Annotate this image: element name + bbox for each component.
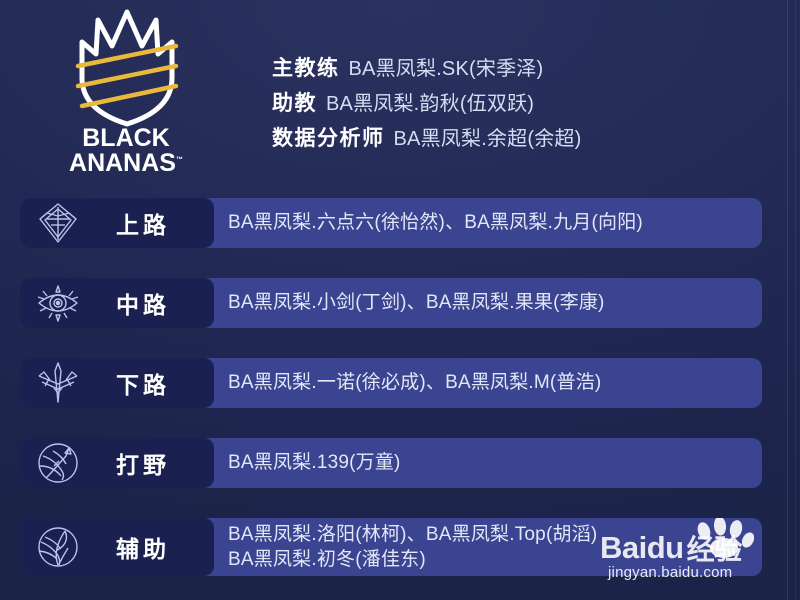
trademark-symbol: ™ — [176, 157, 183, 164]
mid-lane-icon — [30, 280, 86, 326]
player-line: BA黑凤梨.六点六(徐怡然)、BA黑凤梨.九月(向阳) — [228, 210, 762, 235]
role-label-panel: 打野 — [20, 438, 214, 488]
staff-row-assistant-coach: 助教 BA黑凤梨.韵秋(伍双跃) — [272, 87, 772, 117]
staff-label: 助教 — [272, 87, 317, 117]
role-label-panel: 中路 — [20, 278, 214, 328]
player-line: BA黑凤梨.139(万童) — [228, 450, 762, 475]
player-names: BA黑凤梨.139(万童) — [228, 438, 762, 488]
player-line: BA黑凤梨.小剑(丁剑)、BA黑凤梨.果果(李康) — [228, 290, 762, 315]
staff-value: BA黑凤梨.SK(宋季泽) — [349, 52, 544, 81]
shield-crown-icon — [72, 6, 182, 128]
jungle-icon — [30, 440, 86, 486]
bot-lane-icon — [30, 360, 86, 406]
player-line: BA黑凤梨.初冬(潘佳东) — [228, 547, 762, 572]
role-label-panel: 辅助 — [20, 518, 214, 576]
roster-row-support: 辅助 BA黑凤梨.洛阳(林柯)、BA黑凤梨.Top(胡滔) BA黑凤梨.初冬(潘… — [0, 518, 800, 576]
roster-row-bot-lane: 下路 BA黑凤梨.一诺(徐必成)、BA黑凤梨.M(普浩) — [0, 358, 800, 408]
role-label: 中路 — [86, 286, 214, 320]
role-label-panel: 上路 — [20, 198, 214, 248]
player-names: BA黑凤梨.洛阳(林柯)、BA黑凤梨.Top(胡滔) BA黑凤梨.初冬(潘佳东) — [228, 518, 762, 576]
roster-row-jungle: 打野 BA黑凤梨.139(万童) — [0, 438, 800, 488]
wordmark-line-1: BLACK — [82, 124, 170, 152]
role-label: 打野 — [86, 446, 214, 480]
role-label: 辅助 — [86, 530, 214, 564]
team-wordmark: BLACK ANANAS™ — [58, 126, 194, 176]
player-line: BA黑凤梨.洛阳(林柯)、BA黑凤梨.Top(胡滔) — [228, 522, 762, 547]
player-line: BA黑凤梨.一诺(徐必成)、BA黑凤梨.M(普浩) — [228, 370, 762, 395]
staff-value: BA黑凤梨.余超(余超) — [394, 122, 582, 151]
player-names: BA黑凤梨.一诺(徐必成)、BA黑凤梨.M(普浩) — [228, 358, 762, 408]
staff-row-head-coach: 主教练 BA黑凤梨.SK(宋季泽) — [272, 52, 772, 82]
roster-rows: 上路 BA黑凤梨.六点六(徐怡然)、BA黑凤梨.九月(向阳) — [0, 198, 800, 576]
player-names: BA黑凤梨.小剑(丁剑)、BA黑凤梨.果果(李康) — [228, 278, 762, 328]
staff-list: 主教练 BA黑凤梨.SK(宋季泽) 助教 BA黑凤梨.韵秋(伍双跃) 数据分析师… — [272, 52, 772, 157]
staff-value: BA黑凤梨.韵秋(伍双跃) — [326, 87, 534, 116]
role-label: 下路 — [86, 366, 214, 400]
role-label: 上路 — [86, 206, 214, 240]
header: BLACK ANANAS™ 主教练 BA黑凤梨.SK(宋季泽) 助教 BA黑凤梨… — [0, 0, 800, 196]
staff-row-data-analyst: 数据分析师 BA黑凤梨.余超(余超) — [272, 122, 772, 152]
roster-graphic: BLACK ANANAS™ 主教练 BA黑凤梨.SK(宋季泽) 助教 BA黑凤梨… — [0, 0, 800, 600]
role-label-panel: 下路 — [20, 358, 214, 408]
team-logo: BLACK ANANAS™ — [58, 4, 194, 190]
support-icon — [30, 524, 86, 570]
staff-label: 数据分析师 — [272, 122, 385, 152]
roster-row-mid-lane: 中路 BA黑凤梨.小剑(丁剑)、BA黑凤梨.果果(李康) — [0, 278, 800, 328]
gold-slashes — [78, 46, 176, 106]
wordmark-line-2: ANANAS — [69, 149, 176, 177]
staff-label: 主教练 — [272, 52, 340, 82]
player-names: BA黑凤梨.六点六(徐怡然)、BA黑凤梨.九月(向阳) — [228, 198, 762, 248]
top-lane-icon — [30, 200, 86, 246]
roster-row-top-lane: 上路 BA黑凤梨.六点六(徐怡然)、BA黑凤梨.九月(向阳) — [0, 198, 800, 248]
